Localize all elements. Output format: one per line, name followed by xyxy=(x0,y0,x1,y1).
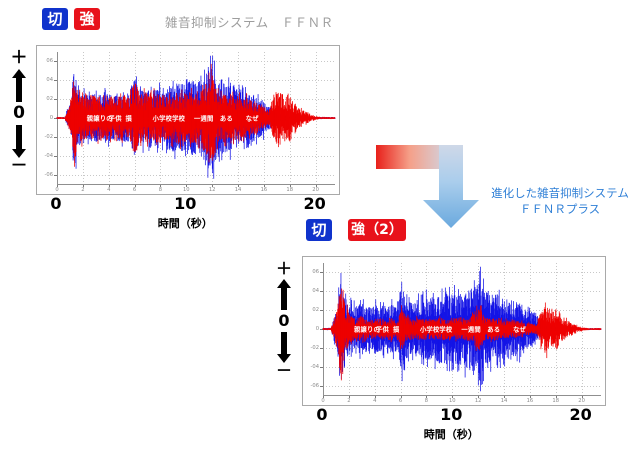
waveform-caption: 小学校 xyxy=(420,325,440,334)
waveform-caption: 子供 xyxy=(109,114,122,123)
bottom-plot-area[interactable]: 0604020-02-04-0602468101214161820親譲りの子供損… xyxy=(302,256,606,406)
waveform-caption: 一週間 xyxy=(461,325,481,334)
top-y-plus-label: ＋ xyxy=(2,50,36,67)
x-axis-title: 時間（秒） xyxy=(424,426,479,442)
waveform-caption: 学校 xyxy=(172,114,185,123)
bottom-badge-off[interactable]: 切 xyxy=(306,219,332,241)
evolution-title-line1: 進化した雑音抑制システム xyxy=(482,186,638,202)
waveform-caption: 損 xyxy=(393,325,400,334)
bottom-y-minus-label: － xyxy=(268,363,300,379)
top-chart: 0604020-02-04-0602468101214161820親譲りの子供損… xyxy=(36,45,340,195)
x-axis-title: 時間（秒） xyxy=(158,215,213,231)
top-y-up-arrow-icon xyxy=(12,69,26,102)
waveform-caption: 学校 xyxy=(439,325,452,334)
bottom-y-down-arrow-icon xyxy=(277,332,291,363)
top-plot-area[interactable]: 0604020-02-04-0602468101214161820親譲りの子供損… xyxy=(36,45,340,195)
bottom-y-plus-label: ＋ xyxy=(268,261,300,277)
waveform-caption: 損 xyxy=(126,114,133,123)
waveform-caption: 小学校 xyxy=(153,114,173,123)
bottom-badge-on[interactable]: 強（2） xyxy=(348,219,406,241)
waveform-plot xyxy=(303,257,605,405)
x-axis-major-label: 10 xyxy=(440,405,462,424)
evolution-title: 進化した雑音抑制システム ＦＦＮＲプラス xyxy=(482,186,638,217)
waveform-plot xyxy=(37,46,339,194)
bottom-y-axis-indicator: ＋ 0 － xyxy=(268,261,300,379)
waveform-caption: なぜ xyxy=(246,114,259,123)
waveform-caption: なぜ xyxy=(513,325,526,334)
top-y-down-arrow-icon xyxy=(12,125,26,158)
bottom-badge-off-label: 切 xyxy=(311,223,326,238)
top-system-title: 雑音抑制システム ＦＦＮＲ xyxy=(165,12,334,31)
transition-arrow xyxy=(372,138,492,230)
waveform-caption: 子供 xyxy=(376,325,389,334)
top-y-minus-label: － xyxy=(2,158,36,175)
x-axis-major-label: 10 xyxy=(174,194,196,213)
x-axis-major-label: 0 xyxy=(50,194,61,213)
top-y-axis-indicator: ＋ 0 － xyxy=(2,50,36,175)
bottom-y-up-arrow-icon xyxy=(277,279,291,310)
bottom-y-zero-label: 0 xyxy=(268,311,300,330)
top-badge-off-label: 切 xyxy=(47,12,62,27)
x-axis-major-label: 20 xyxy=(303,194,325,213)
waveform-caption: 一週間 xyxy=(194,114,214,123)
bottom-chart: 0604020-02-04-0602468101214161820親譲りの子供損… xyxy=(302,256,606,406)
bottom-badge-on-label: 強（2） xyxy=(351,223,403,237)
top-badge-on-label: 強 xyxy=(79,12,94,27)
top-badge-off[interactable]: 切 xyxy=(42,8,68,30)
waveform-caption: ある xyxy=(220,114,233,123)
x-axis-major-label: 0 xyxy=(316,405,327,424)
waveform-caption: ある xyxy=(487,325,500,334)
top-y-zero-label: 0 xyxy=(2,103,36,123)
top-badge-on[interactable]: 強 xyxy=(74,8,100,30)
x-axis-major-label: 20 xyxy=(569,405,591,424)
evolution-title-line2: ＦＦＮＲプラス xyxy=(482,202,638,218)
